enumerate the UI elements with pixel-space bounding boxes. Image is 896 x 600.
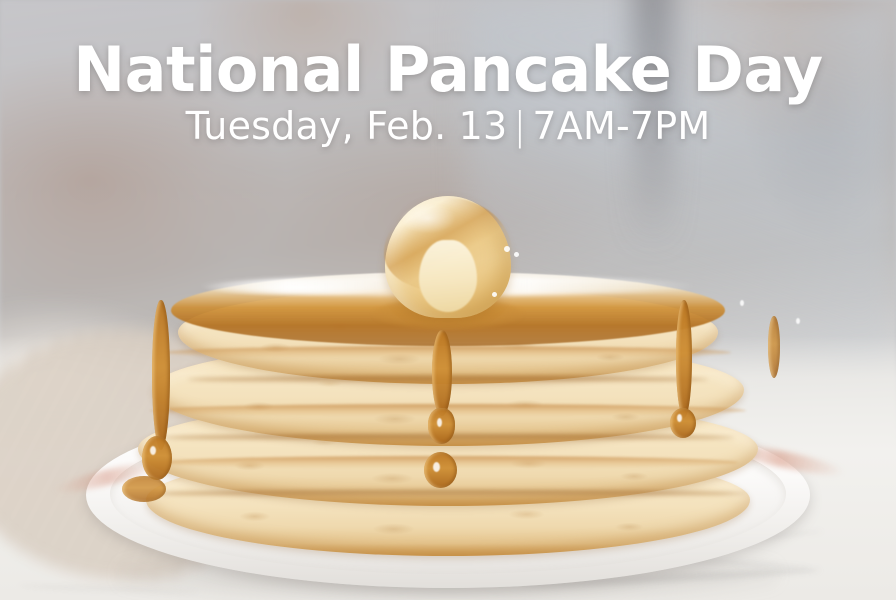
syrup-drip-center-mid bbox=[428, 408, 455, 444]
butter-highlight bbox=[514, 252, 519, 257]
promo-subtitle: Tuesday, Feb. 13|7AM-7PM bbox=[0, 107, 896, 147]
syrup-drip-far-right bbox=[768, 316, 780, 378]
pancake-seam bbox=[150, 490, 746, 497]
butter-highlight bbox=[492, 292, 497, 297]
syrup-drip-center-lower bbox=[424, 452, 457, 488]
butter-highlight bbox=[504, 246, 510, 252]
syrup-highlight bbox=[437, 418, 442, 427]
syrup-highlight bbox=[677, 414, 682, 422]
promo-banner: National Pancake Day Tuesday, Feb. 13|7A… bbox=[0, 0, 896, 600]
syrup-drip-left-upper bbox=[152, 300, 170, 450]
syrup-highlight bbox=[740, 300, 744, 306]
syrup-highlight bbox=[150, 446, 156, 455]
syrup-drip-right-upper bbox=[676, 300, 692, 418]
headline-block: National Pancake Day Tuesday, Feb. 13|7A… bbox=[0, 38, 896, 147]
syrup-drip-center-upper bbox=[432, 330, 452, 416]
promo-subtitle-hours: 7AM-7PM bbox=[532, 104, 710, 148]
syrup-drip-left-pool bbox=[122, 476, 166, 502]
promo-subtitle-separator: | bbox=[507, 107, 532, 147]
syrup-drip-right-lower bbox=[670, 408, 696, 438]
syrup-highlight bbox=[433, 462, 440, 472]
butter-pat-core bbox=[419, 240, 477, 312]
syrup-drip-left-lower bbox=[142, 436, 172, 480]
syrup-highlight bbox=[796, 318, 800, 324]
promo-title: National Pancake Day bbox=[0, 38, 896, 101]
promo-subtitle-date: Tuesday, Feb. 13 bbox=[186, 104, 508, 148]
